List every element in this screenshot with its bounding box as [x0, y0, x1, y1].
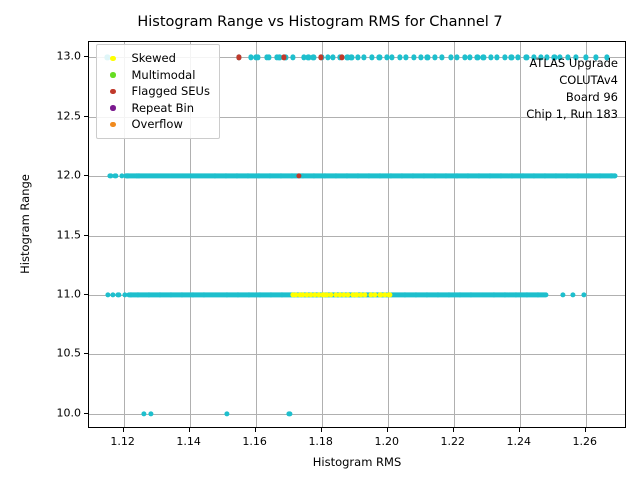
- data-point: [560, 292, 565, 297]
- gridline-horizontal: [89, 236, 625, 237]
- y-axis-label: Histogram Range: [18, 124, 32, 324]
- x-tick-mark: [189, 428, 190, 432]
- y-tick-mark: [84, 294, 88, 295]
- data-point: [325, 55, 330, 60]
- y-tick-mark: [84, 116, 88, 117]
- gridline-horizontal: [89, 414, 625, 415]
- legend-item-label: Multimodal: [132, 68, 196, 82]
- data-point: [142, 411, 147, 416]
- x-tick-label: 1.18: [308, 435, 333, 448]
- data-point: [612, 174, 617, 179]
- legend-item-label: Repeat Bin: [132, 101, 195, 115]
- data-point: [355, 55, 360, 60]
- data-point: [495, 55, 500, 60]
- y-tick-mark: [84, 56, 88, 57]
- gridline-vertical: [520, 42, 521, 427]
- legend-item-multimodal[interactable]: Multimodal: [103, 67, 210, 84]
- data-point: [398, 55, 403, 60]
- legend-marker-icon: [110, 89, 116, 95]
- annotation-line: COLUTAv4: [526, 72, 618, 89]
- y-tick-mark: [84, 413, 88, 414]
- data-point: [361, 55, 366, 60]
- x-tick-label: 1.20: [374, 435, 399, 448]
- data-point: [148, 411, 153, 416]
- y-tick-label: 10.5: [57, 347, 82, 360]
- data-point: [488, 55, 493, 60]
- data-point: [349, 55, 354, 60]
- page-title: Histogram Range vs Histogram RMS for Cha…: [0, 14, 640, 30]
- data-point: [481, 55, 486, 60]
- data-point: [340, 55, 345, 60]
- data-point: [468, 55, 473, 60]
- x-tick-label: 1.14: [176, 435, 201, 448]
- gridline-vertical: [388, 42, 389, 427]
- legend-item-repeat-bin[interactable]: Repeat Bin: [103, 100, 210, 117]
- x-tick-mark: [519, 428, 520, 432]
- data-point: [224, 411, 229, 416]
- gridline-horizontal: [89, 354, 625, 355]
- data-point: [113, 174, 118, 179]
- x-tick-label: 1.22: [440, 435, 465, 448]
- data-point: [377, 55, 382, 60]
- data-point: [331, 55, 336, 60]
- data-point: [509, 55, 514, 60]
- y-tick-mark: [84, 235, 88, 236]
- data-point: [287, 411, 292, 416]
- annotation-text: ATLAS UpgradeCOLUTAv4Board 96Chip 1, Run…: [526, 55, 618, 123]
- x-tick-label: 1.12: [110, 435, 135, 448]
- annotation-line: ATLAS Upgrade: [526, 55, 618, 72]
- legend-item-label: Flagged SEUs: [132, 84, 210, 98]
- data-point: [266, 55, 271, 60]
- x-tick-label: 1.24: [506, 435, 531, 448]
- data-point: [290, 55, 295, 60]
- data-point: [454, 55, 459, 60]
- y-tick-label: 13.0: [57, 50, 82, 63]
- y-tick-label: 11.5: [57, 228, 82, 241]
- data-point: [311, 55, 316, 60]
- data-point: [236, 55, 241, 60]
- legend-item-flagged-seus[interactable]: Flagged SEUs: [103, 83, 210, 100]
- data-point: [448, 55, 453, 60]
- y-tick-label: 12.0: [57, 169, 82, 182]
- data-point: [389, 55, 394, 60]
- y-tick-mark: [84, 175, 88, 176]
- y-tick-label: 10.0: [57, 406, 82, 419]
- x-tick-mark: [585, 428, 586, 432]
- y-tick-label: 12.5: [57, 109, 82, 122]
- x-tick-mark: [453, 428, 454, 432]
- legend-item-overflow[interactable]: Overflow: [103, 116, 210, 133]
- legend-item-label: Skewed: [132, 51, 176, 65]
- legend-marker-icon: [110, 122, 116, 128]
- legend-marker-icon: [110, 56, 116, 62]
- data-point: [570, 292, 575, 297]
- x-tick-mark: [123, 428, 124, 432]
- data-point: [502, 55, 507, 60]
- gridline-vertical: [256, 42, 257, 427]
- data-point: [544, 292, 549, 297]
- annotation-line: Board 96: [526, 89, 618, 106]
- legend-marker-icon: [110, 72, 116, 78]
- gridline-vertical: [322, 42, 323, 427]
- gridline-vertical: [454, 42, 455, 427]
- legend-item-label: Overflow: [132, 117, 183, 131]
- data-point: [475, 55, 480, 60]
- data-point: [369, 55, 374, 60]
- y-tick-mark: [84, 353, 88, 354]
- data-point: [425, 55, 430, 60]
- data-point: [116, 292, 121, 297]
- data-point: [255, 55, 260, 60]
- data-point: [418, 55, 423, 60]
- legend: SkewedMultimodalFlagged SEUsRepeat BinOv…: [96, 44, 220, 139]
- data-point: [403, 55, 408, 60]
- y-tick-label: 11.0: [57, 287, 82, 300]
- legend-item-skewed[interactable]: Skewed: [103, 50, 210, 67]
- x-tick-label: 1.26: [572, 435, 597, 448]
- x-axis-label: Histogram RMS: [88, 455, 626, 469]
- x-tick-mark: [321, 428, 322, 432]
- x-tick-mark: [255, 428, 256, 432]
- data-point: [432, 55, 437, 60]
- x-tick-mark: [387, 428, 388, 432]
- data-point: [440, 55, 445, 60]
- annotation-line: Chip 1, Run 183: [526, 106, 618, 123]
- scatter-figure: Histogram Range vs Histogram RMS for Cha…: [0, 0, 640, 480]
- legend-marker-icon: [110, 105, 116, 111]
- data-point: [412, 55, 417, 60]
- x-tick-label: 1.16: [242, 435, 267, 448]
